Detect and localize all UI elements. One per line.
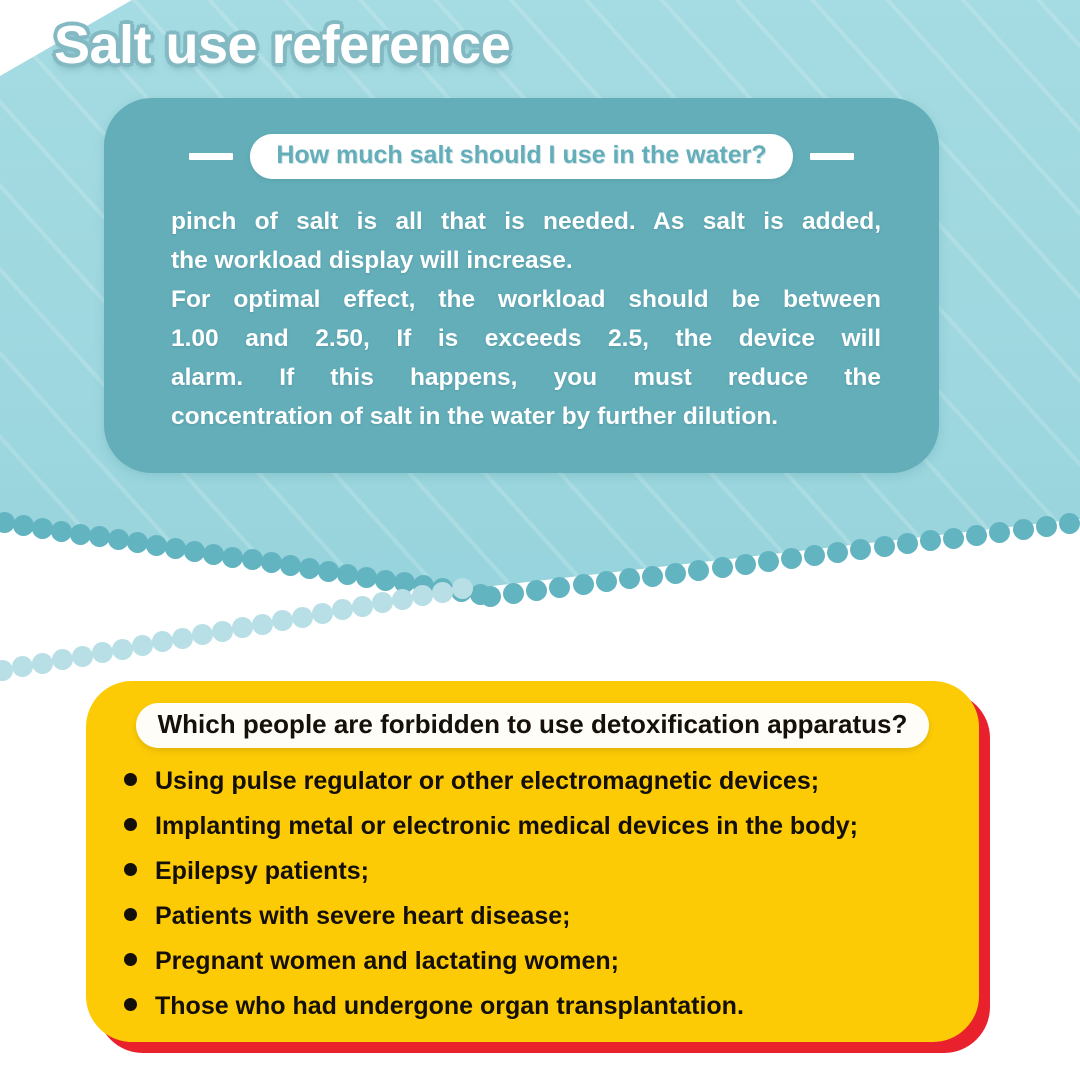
list-item-label: Implanting metal or electronic medical d… [155, 812, 858, 840]
decorative-dot [372, 592, 393, 613]
salt-paragraph-2-line-2: 1.00 and 2.50, If is exceeds 2.5, the de… [171, 319, 881, 358]
decorative-dot [312, 603, 333, 624]
decorative-dot [0, 660, 13, 681]
decorative-dot [72, 646, 93, 667]
warning-bullet-list: Using pulse regulator or other electroma… [124, 767, 955, 1037]
decorative-dot [192, 624, 213, 645]
bullet-dot-icon [124, 773, 137, 786]
decorative-dot [52, 649, 73, 670]
decorative-dot [292, 607, 313, 628]
poster-root: Salt use reference How much salt should … [0, 0, 1080, 1080]
list-item-label: Epilepsy patients; [155, 857, 369, 885]
list-item: Patients with severe heart disease; [124, 902, 955, 930]
decorative-dot [112, 639, 133, 660]
bullet-dot-icon [124, 998, 137, 1011]
bullet-dot-icon [124, 863, 137, 876]
decorative-dot [619, 568, 640, 589]
list-item-label: Those who had undergone organ transplant… [155, 992, 744, 1020]
decorative-dot [172, 628, 193, 649]
warning-card-yellow-body: Which people are forbidden to use detoxi… [86, 681, 979, 1042]
salt-paragraph-1-line-1: pinch of salt is all that is needed. As … [171, 202, 881, 241]
decorative-dot [480, 586, 501, 607]
salt-card-heading: How much salt should I use in the water? [250, 134, 792, 179]
right-dash-icon [810, 153, 854, 160]
list-item-label: Patients with severe heart disease; [155, 902, 570, 930]
bullet-dot-icon [124, 818, 137, 831]
list-item: Pregnant women and lactating women; [124, 947, 955, 975]
decorative-dot [549, 577, 570, 598]
decorative-dot [642, 566, 663, 587]
decorative-dot [352, 596, 373, 617]
salt-paragraph-2-line-3: alarm. If this happens, you must reduce … [171, 358, 881, 397]
decorative-dot [252, 614, 273, 635]
list-item: Implanting metal or electronic medical d… [124, 812, 955, 840]
decorative-dot [212, 621, 233, 642]
page-title: Salt use reference [54, 14, 510, 76]
decorative-dot [152, 631, 173, 652]
decorative-dot [596, 571, 617, 592]
warning-card-header: Which people are forbidden to use detoxi… [86, 703, 979, 748]
decorative-dot [332, 599, 353, 620]
decorative-dot [526, 580, 547, 601]
bullet-dot-icon [124, 908, 137, 921]
list-item: Those who had undergone organ transplant… [124, 992, 955, 1020]
decorative-dot [392, 589, 413, 610]
decorative-dot [272, 610, 293, 631]
decorative-dot [573, 574, 594, 595]
warning-card: Which people are forbidden to use detoxi… [86, 681, 990, 1053]
decorative-dot [503, 583, 524, 604]
warning-card-heading: Which people are forbidden to use detoxi… [136, 703, 930, 748]
salt-paragraph-1-line-2: the workload display will increase. [171, 241, 881, 280]
salt-info-card: How much salt should I use in the water?… [104, 98, 939, 473]
list-item-label: Using pulse regulator or other electroma… [155, 767, 819, 795]
decorative-dot [232, 617, 253, 638]
salt-card-body: pinch of salt is all that is needed. As … [171, 202, 881, 436]
list-item: Epilepsy patients; [124, 857, 955, 885]
list-item-label: Pregnant women and lactating women; [155, 947, 619, 975]
salt-card-header: How much salt should I use in the water? [104, 134, 939, 178]
decorative-dot [92, 642, 113, 663]
decorative-dot [12, 656, 33, 677]
salt-paragraph-2-line-1: For optimal effect, the workload should … [171, 280, 881, 319]
salt-paragraph-2-line-4: concentration of salt in the water by fu… [171, 397, 881, 436]
decorative-dot [32, 653, 53, 674]
left-dash-icon [189, 153, 233, 160]
list-item: Using pulse regulator or other electroma… [124, 767, 955, 795]
bullet-dot-icon [124, 953, 137, 966]
decorative-dot [132, 635, 153, 656]
